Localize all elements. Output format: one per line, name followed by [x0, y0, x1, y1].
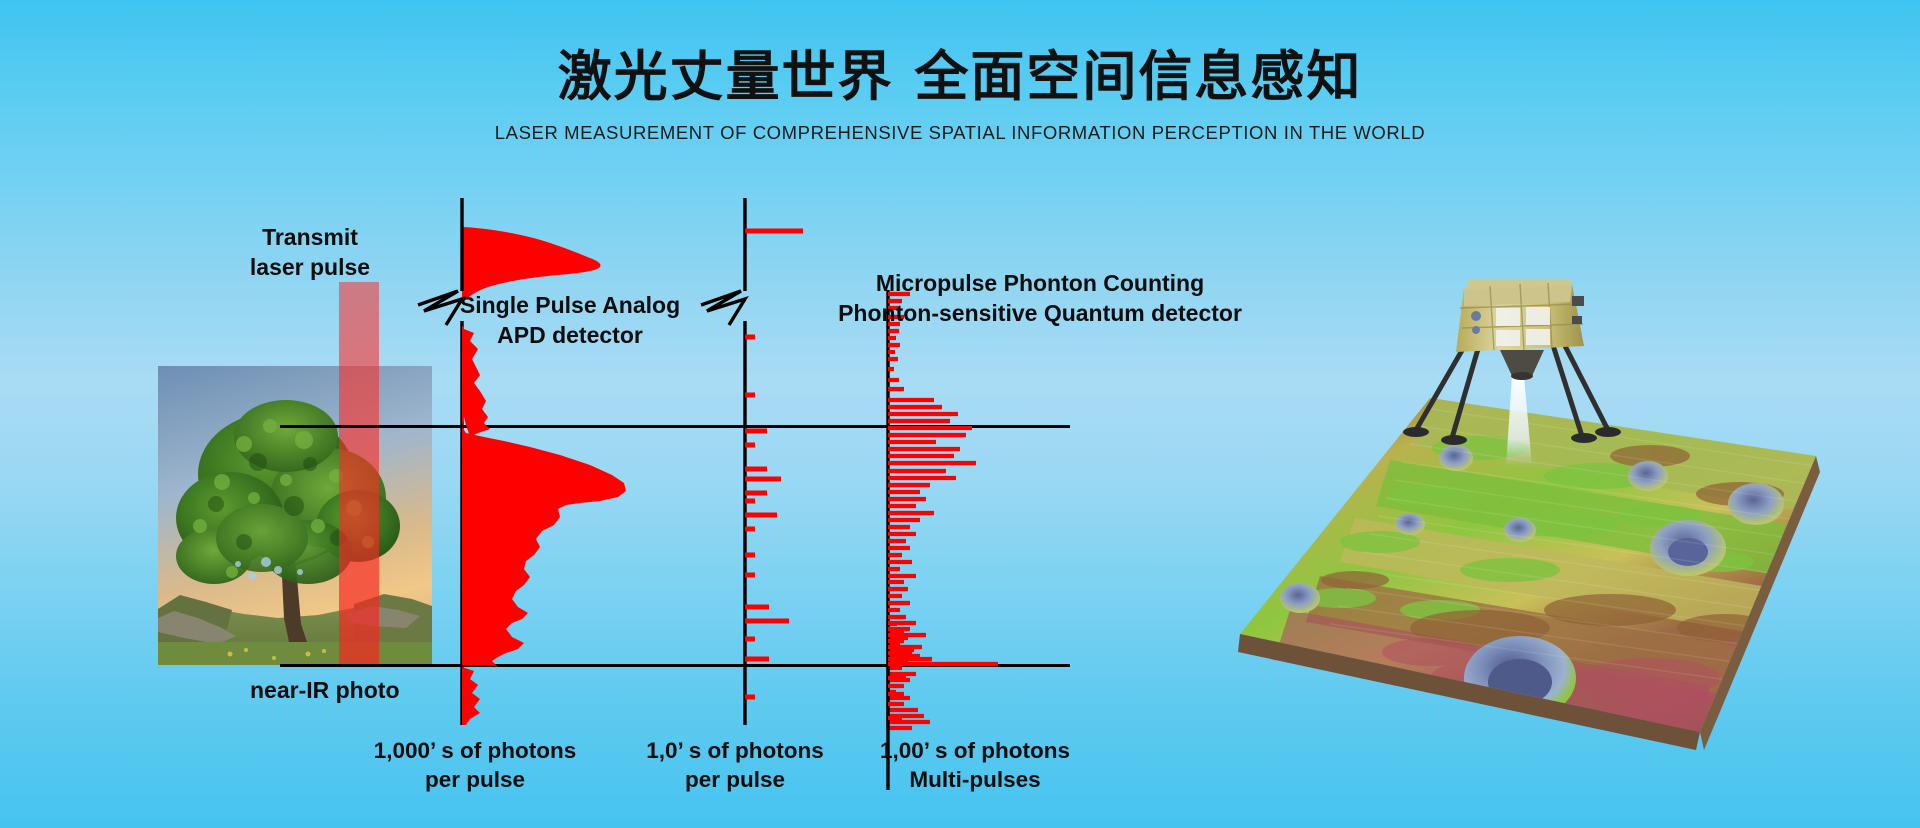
label-near-ir-photo: near-IR photo — [250, 675, 460, 705]
tree-photo-graphic — [158, 366, 432, 665]
footer-analog-photons: 1,000’ s of photons per pulse — [330, 737, 620, 795]
terrain-scene-svg — [1180, 280, 1880, 760]
label-transmit-laser-pulse: Transmit laser pulse — [220, 222, 400, 283]
poster-canvas: 激光丈量世界 全面空间信息感知 LASER MEASUREMENT OF COM… — [0, 0, 1920, 828]
footer-multipulse: 1,00’ s of photons Multi-pulses — [850, 737, 1100, 795]
lidar-terrain-scene — [1180, 280, 1880, 760]
page-subtitle: LASER MEASUREMENT OF COMPREHENSIVE SPATI… — [0, 122, 1920, 144]
photon-count-bars — [745, 231, 803, 697]
analog-subsurface-tail — [462, 667, 480, 725]
label-single-pulse-analog: Single Pulse Analog APD detector — [420, 290, 720, 351]
ground-return-bars — [888, 623, 998, 718]
crater-small-5 — [1280, 583, 1320, 613]
laser-beam-overlay — [339, 282, 379, 666]
footer-photon-counting: 1,0’ s of photons per pulse — [610, 737, 860, 795]
near-ir-tree-photo — [158, 366, 432, 665]
crater-small-2 — [1628, 461, 1668, 491]
header: 激光丈量世界 全面空间信息感知 LASER MEASUREMENT OF COM… — [0, 46, 1920, 144]
crater-small-4 — [1395, 513, 1425, 535]
page-title: 激光丈量世界 全面空间信息感知 — [0, 46, 1920, 108]
crater-small-1 — [1728, 483, 1784, 525]
analog-return-waveform — [462, 325, 626, 667]
